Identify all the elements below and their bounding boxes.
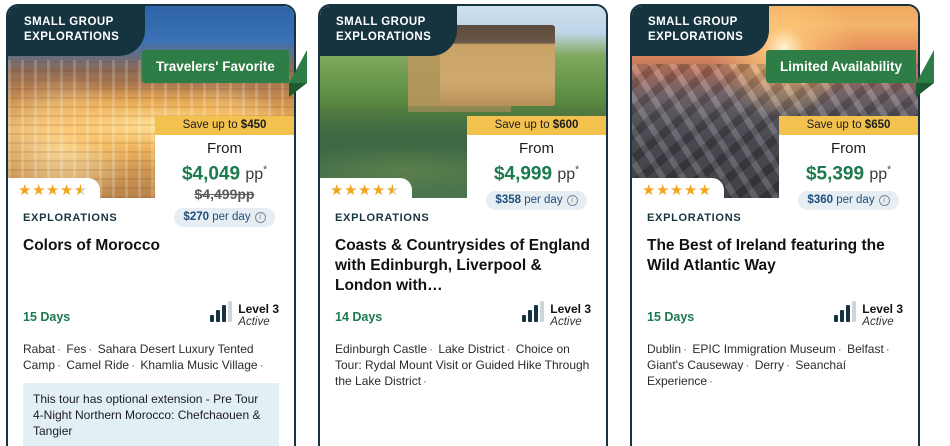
highlight-item: Camel Ride: [66, 358, 129, 372]
star-half-icon: ★: [386, 182, 400, 199]
activity-level-name: Level 3: [238, 303, 279, 316]
star-full-icon: ★: [698, 182, 712, 199]
highlight-separator: ·: [86, 342, 94, 356]
highlight-separator: ·: [427, 342, 435, 356]
star-full-icon: ★: [32, 182, 46, 199]
highlights-list: Rabat· Fes· Sahara Desert Luxury Tented …: [23, 341, 279, 373]
highlight-item: Khamlia Music Village: [140, 358, 257, 372]
info-icon[interactable]: i: [567, 195, 578, 206]
highlight-separator: ·: [129, 358, 137, 372]
highlight-item: Dublin: [647, 342, 681, 356]
meta-row: 14 DaysLevel 3Active: [335, 302, 591, 329]
star-full-icon: ★: [358, 182, 372, 199]
from-label: From: [473, 139, 600, 159]
star-full-icon: ★: [372, 182, 386, 199]
tour-title[interactable]: Colors of Morocco: [23, 236, 279, 298]
per-day-pill[interactable]: $270 per dayi: [174, 208, 274, 227]
highlight-item: Fes: [66, 342, 86, 356]
duration-label: 14 Days: [335, 302, 382, 324]
star-full-icon: ★: [656, 182, 670, 199]
tour-card[interactable]: EXPLORATIONSCoasts & Countrysides of Eng…: [318, 4, 608, 446]
activity-level-text: Level 3Active: [862, 302, 903, 329]
meta-row: 15 DaysLevel 3Active: [23, 302, 279, 329]
price-current: $5,399 pp*: [785, 159, 912, 186]
star-full-icon: ★: [642, 182, 656, 199]
highlights-list: Dublin· EPIC Immigration Museum· Belfast…: [647, 341, 903, 389]
per-day-text: $360 per day: [807, 194, 874, 206]
highlight-separator: ·: [884, 342, 892, 356]
activity-level-name: Level 3: [550, 303, 591, 316]
highlight-separator: ·: [504, 342, 512, 356]
per-day-text: $358 per day: [495, 194, 562, 206]
activity-level-sub: Active: [550, 316, 591, 329]
price-block: Save up to $450From$4,049 pp*$4,499pp$27…: [155, 116, 294, 235]
card-clip: EXPLORATIONSCoasts & Countrysides of Eng…: [320, 6, 606, 446]
star-rating[interactable]: ★★★★★: [330, 182, 400, 199]
activity-level-bars-icon: [210, 302, 232, 322]
highlight-item: Edinburgh Castle: [335, 342, 427, 356]
activity-level-text: Level 3Active: [550, 302, 591, 329]
tour-card-deck: EXPLORATIONSColors of Morocco15 DaysLeve…: [0, 0, 950, 446]
star-half-icon: ★: [74, 182, 88, 199]
save-banner: Save up to $450: [155, 116, 294, 135]
price-current: $4,049 pp*: [161, 159, 288, 186]
extension-note: This tour has optional extension - Pre T…: [23, 383, 279, 446]
rating-notch: ★★★★★: [320, 178, 412, 201]
rating-notch: ★★★★★: [632, 178, 724, 201]
highlight-item: Giant's Causeway: [647, 358, 743, 372]
activity-level-bars-icon: [522, 302, 544, 322]
highlight-item: Rabat: [23, 342, 55, 356]
highlight-separator: ·: [55, 358, 63, 372]
save-banner: Save up to $650: [779, 116, 918, 135]
star-full-icon: ★: [330, 182, 344, 199]
activity-level-text: Level 3Active: [238, 302, 279, 329]
promo-ribbon: Limited Availability: [766, 50, 916, 83]
highlight-separator: ·: [743, 358, 751, 372]
price-block: Save up to $600From$4,999 pp*$358 per da…: [467, 116, 606, 218]
small-group-badge: SMALL GROUPEXPLORATIONS: [632, 6, 769, 56]
card-body: EXPLORATIONSCoasts & Countrysides of Eng…: [320, 198, 606, 389]
price-original: $4,499pp: [161, 186, 288, 203]
price-body: From$5,399 pp*$360 per dayi: [779, 135, 918, 218]
star-full-icon: ★: [46, 182, 60, 199]
per-day-pill[interactable]: $360 per dayi: [798, 191, 898, 210]
star-rating[interactable]: ★★★★★: [18, 182, 88, 199]
card-body: EXPLORATIONSThe Best of Ireland featurin…: [632, 198, 918, 389]
highlight-separator: ·: [707, 374, 715, 388]
save-banner: Save up to $600: [467, 116, 606, 135]
highlight-separator: ·: [258, 358, 266, 372]
per-day-pill[interactable]: $358 per dayi: [486, 191, 586, 210]
small-group-badge: SMALL GROUPEXPLORATIONS: [320, 6, 457, 56]
highlight-separator: ·: [681, 342, 689, 356]
activity-level-bars-icon: [834, 302, 856, 322]
info-icon[interactable]: i: [879, 195, 890, 206]
star-full-icon: ★: [344, 182, 358, 199]
promo-ribbon: Travelers' Favorite: [142, 50, 289, 83]
price-body: From$4,049 pp*$4,499pp$270 per dayi: [155, 135, 294, 235]
price-current: $4,999 pp*: [473, 159, 600, 186]
star-full-icon: ★: [684, 182, 698, 199]
highlight-item: EPIC Immigration Museum: [692, 342, 835, 356]
rating-notch: ★★★★★: [8, 178, 100, 201]
highlight-separator: ·: [784, 358, 792, 372]
duration-label: 15 Days: [23, 302, 70, 324]
from-label: From: [785, 139, 912, 159]
activity-level: Level 3Active: [834, 302, 903, 329]
meta-row: 15 DaysLevel 3Active: [647, 302, 903, 329]
price-block: Save up to $650From$5,399 pp*$360 per da…: [779, 116, 918, 218]
activity-level-name: Level 3: [862, 303, 903, 316]
star-full-icon: ★: [60, 182, 74, 199]
activity-level: Level 3Active: [522, 302, 591, 329]
tour-title[interactable]: The Best of Ireland featuring the Wild A…: [647, 236, 903, 298]
highlight-separator: ·: [836, 342, 844, 356]
highlight-item: Derry: [755, 358, 784, 372]
price-body: From$4,999 pp*$358 per dayi: [467, 135, 606, 218]
highlight-separator: ·: [421, 374, 429, 388]
highlight-item: Lake District: [438, 342, 504, 356]
tour-card[interactable]: EXPLORATIONSColors of Morocco15 DaysLeve…: [6, 4, 296, 446]
small-group-badge: SMALL GROUPEXPLORATIONS: [8, 6, 145, 56]
star-rating[interactable]: ★★★★★: [642, 182, 712, 199]
activity-level-sub: Active: [238, 316, 279, 329]
per-day-text: $270 per day: [183, 211, 250, 223]
highlight-separator: ·: [55, 342, 63, 356]
tour-title[interactable]: Coasts & Countrysides of England with Ed…: [335, 236, 591, 298]
highlights-list: Edinburgh Castle· Lake District· Choice …: [335, 341, 591, 389]
duration-label: 15 Days: [647, 302, 694, 324]
from-label: From: [161, 139, 288, 159]
star-full-icon: ★: [670, 182, 684, 199]
highlight-item: Belfast: [847, 342, 884, 356]
activity-level-sub: Active: [862, 316, 903, 329]
info-icon[interactable]: i: [255, 212, 266, 223]
tour-card[interactable]: EXPLORATIONSThe Best of Ireland featurin…: [630, 4, 920, 446]
activity-level: Level 3Active: [210, 302, 279, 329]
star-full-icon: ★: [18, 182, 32, 199]
